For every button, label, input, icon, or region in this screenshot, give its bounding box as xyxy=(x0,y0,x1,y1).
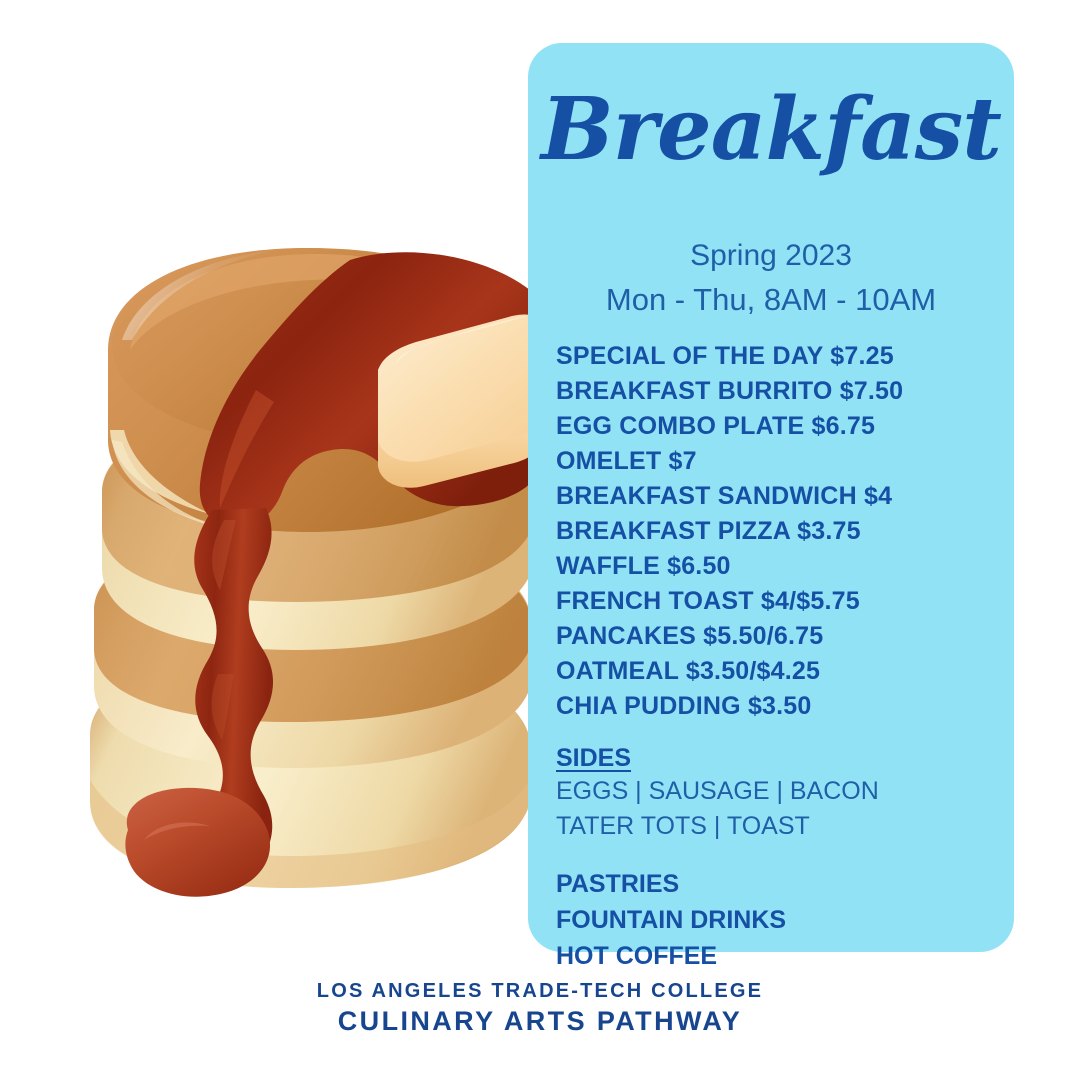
menu-item: EGG COMBO PLATE $6.75 xyxy=(556,409,1006,444)
menu-season: Spring 2023 xyxy=(528,241,1014,271)
extras-item: FOUNTAIN DRINKS xyxy=(556,902,1006,938)
footer-institution: LOS ANGELES TRADE-TECH COLLEGE xyxy=(0,978,1080,1004)
menu-item: OATMEAL $3.50/$4.25 xyxy=(556,654,1006,689)
sides-section: SIDES EGGS | SAUSAGE | BACON TATER TOTS … xyxy=(556,743,1006,844)
extras-section: PASTRIES FOUNTAIN DRINKS HOT COFFEE xyxy=(556,866,1006,974)
breakfast-menu-poster: Breakfast Spring 2023 Mon - Thu, 8AM - 1… xyxy=(0,0,1080,1080)
menu-items-list: SPECIAL OF THE DAY $7.25 BREAKFAST BURRI… xyxy=(556,339,1006,724)
pancake-stack-illustration xyxy=(60,140,540,930)
extras-item: HOT COFFEE xyxy=(556,938,1006,974)
menu-item: PANCAKES $5.50/6.75 xyxy=(556,619,1006,654)
menu-item: OMELET $7 xyxy=(556,444,1006,479)
menu-hours: Mon - Thu, 8AM - 10AM xyxy=(528,284,1014,315)
sides-line: TATER TOTS | TOAST xyxy=(556,809,1006,844)
menu-item: CHIA PUDDING $3.50 xyxy=(556,689,1006,724)
sides-heading: SIDES xyxy=(556,743,631,774)
sides-line: EGGS | SAUSAGE | BACON xyxy=(556,774,1006,809)
menu-item: BREAKFAST PIZZA $3.75 xyxy=(556,514,1006,549)
menu-item: BREAKFAST SANDWICH $4 xyxy=(556,479,1006,514)
page-title: Breakfast xyxy=(528,87,1014,173)
extras-item: PASTRIES xyxy=(556,866,1006,902)
footer: LOS ANGELES TRADE-TECH COLLEGE CULINARY … xyxy=(0,978,1080,1038)
menu-item: SPECIAL OF THE DAY $7.25 xyxy=(556,339,1006,374)
menu-item: WAFFLE $6.50 xyxy=(556,549,1006,584)
menu-panel: Breakfast Spring 2023 Mon - Thu, 8AM - 1… xyxy=(528,43,1014,952)
menu-item: BREAKFAST BURRITO $7.50 xyxy=(556,374,1006,409)
footer-program: CULINARY ARTS PATHWAY xyxy=(0,1004,1080,1038)
menu-item: FRENCH TOAST $4/$5.75 xyxy=(556,584,1006,619)
